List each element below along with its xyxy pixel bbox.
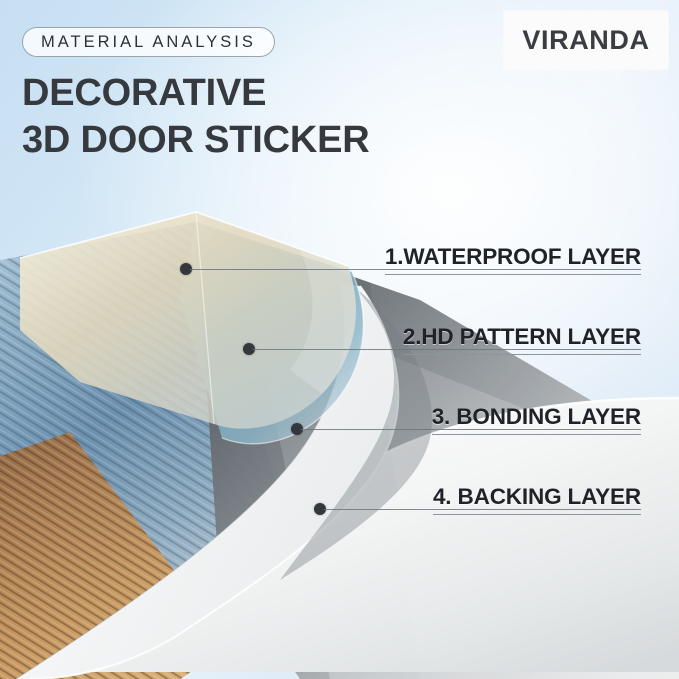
callout-group: 1.WATERPROOF LAYER 2.HD PATTERN LAYER 3.… [0, 0, 679, 679]
callout-hd-pattern-layer: 2.HD PATTERN LAYER [311, 324, 641, 355]
callout-leader-1 [190, 269, 641, 270]
callout-label-2: 2.HD PATTERN LAYER [403, 324, 641, 355]
callout-waterproof-layer: 1.WATERPROOF LAYER [311, 244, 641, 275]
callout-label-3: 3. BONDING LAYER [432, 404, 641, 435]
callout-label-4: 4. BACKING LAYER [433, 484, 641, 515]
callout-bonding-layer: 3. BONDING LAYER [311, 404, 641, 435]
callout-leader-3 [301, 429, 641, 430]
poster-canvas: MATERIAL ANALYSIS DECORATIVE 3D DOOR STI… [0, 0, 679, 679]
callout-leader-4 [324, 509, 641, 510]
callout-leader-2 [253, 349, 641, 350]
callout-backing-layer: 4. BACKING LAYER [311, 484, 641, 515]
callout-label-1: 1.WATERPROOF LAYER [385, 244, 641, 275]
